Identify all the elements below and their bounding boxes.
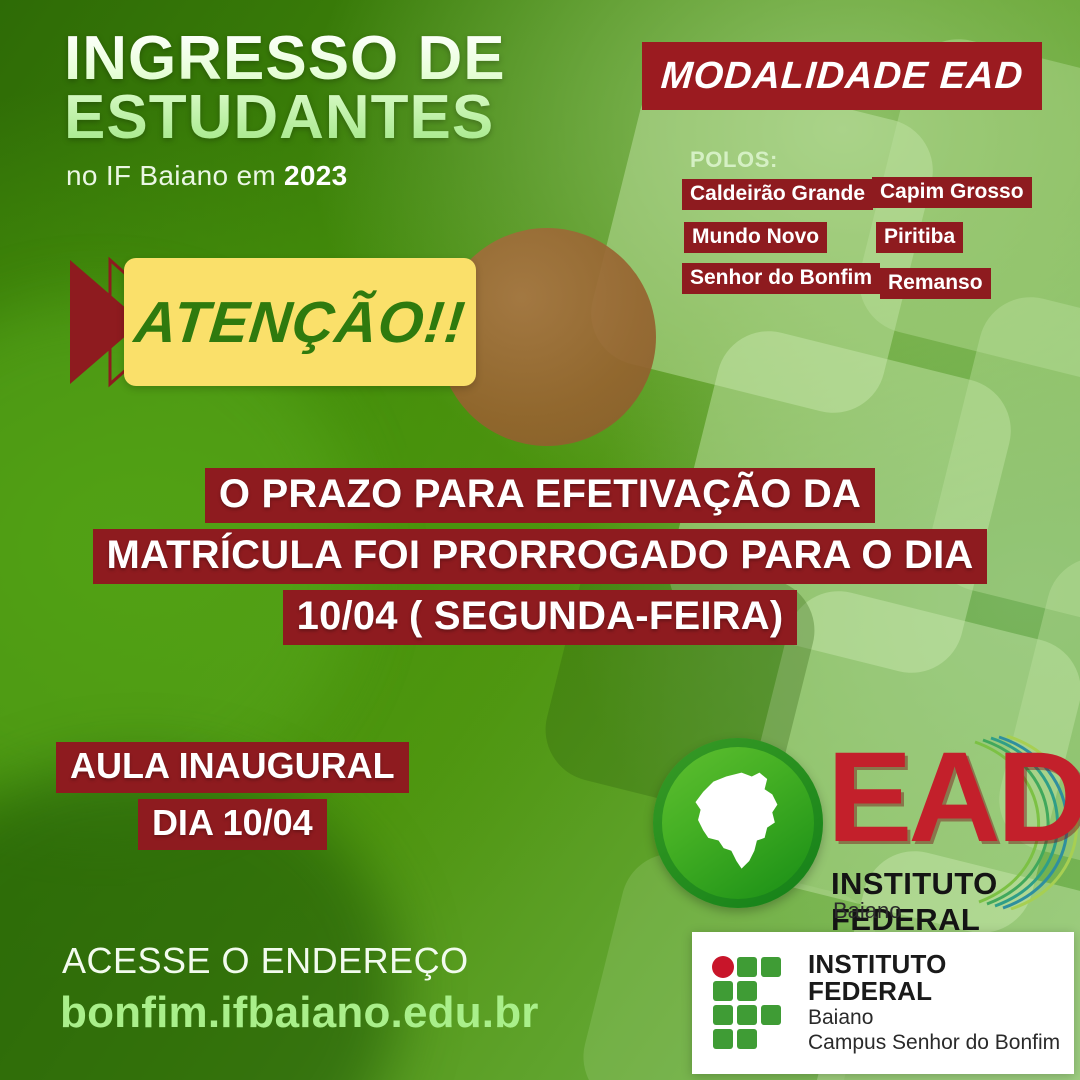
subtitle-year: 2023 <box>284 160 348 191</box>
if-logo-title: INSTITUTO FEDERAL <box>808 951 1074 1006</box>
if-logo-line-3: Campus Senhor do Bonfim <box>808 1030 1074 1055</box>
modalidade-banner: MODALIDADE EAD <box>642 42 1042 110</box>
polo-tag: Mundo Novo <box>684 222 827 253</box>
polos-label: POLOS: <box>690 147 778 173</box>
if-logo-text: INSTITUTO FEDERAL Baiano Campus Senhor d… <box>808 951 1074 1056</box>
poster-canvas: INGRESSO DE ESTUDANTES no IF Baiano em 2… <box>0 0 1080 1080</box>
message-line: O PRAZO PARA EFETIVAÇÃO DA <box>205 468 875 523</box>
polo-tag: Piritiba <box>876 222 963 253</box>
attention-label: ATENÇÃO!! <box>131 289 468 356</box>
ead-acronym: EAD <box>827 734 1080 862</box>
message-line: 10/04 ( SEGUNDA-FEIRA) <box>283 590 798 645</box>
subtitle: no IF Baiano em 2023 <box>66 160 348 192</box>
attention-banner: ATENÇÃO!! <box>124 258 476 386</box>
if-baiano-logo-card: INSTITUTO FEDERAL Baiano Campus Senhor d… <box>692 932 1074 1074</box>
website-url[interactable]: bonfim.ifbaiano.edu.br <box>60 988 539 1038</box>
address-label: ACESSE O ENDEREÇO <box>62 940 469 982</box>
main-message: O PRAZO PARA EFETIVAÇÃO DA MATRÍCULA FOI… <box>0 468 1080 645</box>
polo-tag: Remanso <box>880 268 991 299</box>
aula-inaugural-block: AULA INAUGURAL DIA 10/04 <box>56 742 409 850</box>
instituto-federal-grid-icon <box>712 956 792 1050</box>
aula-line: AULA INAUGURAL <box>56 742 409 793</box>
headline-line-2: ESTUDANTES <box>64 89 506 148</box>
bahia-map-icon <box>675 756 803 884</box>
if-logo-line-2: Baiano <box>808 1005 1074 1030</box>
ead-logo: EAD INSTITUTO FEDERAL Baiano <box>645 726 1075 926</box>
modalidade-label: MODALIDADE EAD <box>659 55 1024 98</box>
message-line: MATRÍCULA FOI PRORROGADO PARA O DIA <box>93 529 988 584</box>
polo-tag: Caldeirão Grande <box>682 179 873 210</box>
ead-subtitle-2: Baiano <box>833 898 902 924</box>
aula-line: DIA 10/04 <box>138 799 327 850</box>
subtitle-prefix: no IF Baiano em <box>66 160 284 191</box>
polo-tag: Capim Grosso <box>872 177 1032 208</box>
page-title: INGRESSO DE ESTUDANTES <box>64 30 506 148</box>
polo-tag: Senhor do Bonfim <box>682 263 880 294</box>
